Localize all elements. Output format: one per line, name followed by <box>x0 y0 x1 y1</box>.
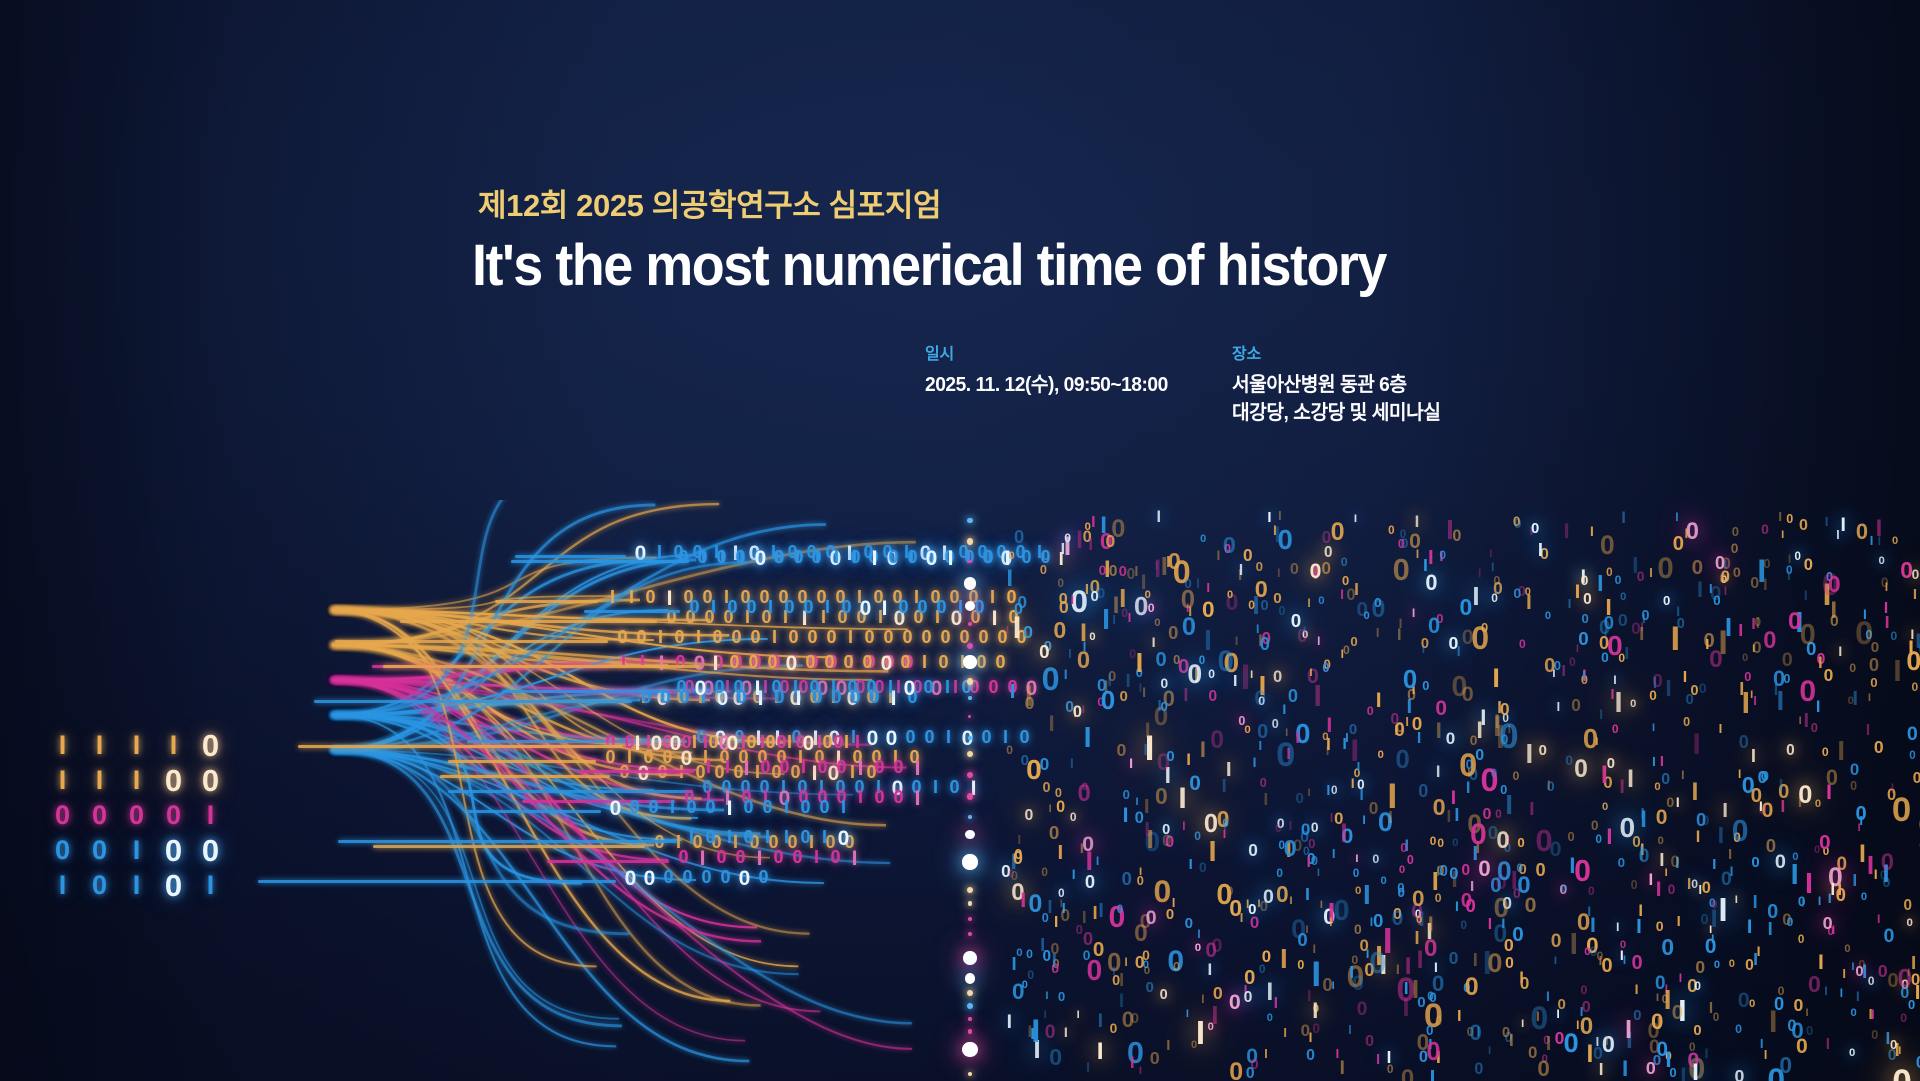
scatter-bit: I <box>1907 968 1910 979</box>
scatter-bit: 0 <box>1580 984 1587 996</box>
scatter-bit: I <box>1913 587 1917 602</box>
scatter-bit: 0 <box>1683 716 1690 729</box>
scatter-bit: 0 <box>1581 612 1588 625</box>
scatter-bit: I <box>1656 993 1659 1004</box>
scatter-bit: I <box>1866 723 1870 738</box>
scatter-bit: I <box>1472 585 1479 611</box>
scatter-bit: I <box>1488 917 1492 933</box>
scatter-bit: 0 <box>1799 677 1816 707</box>
scatter-bit: 0 <box>1040 756 1050 773</box>
scatter-bit: I <box>1312 1000 1318 1022</box>
scatter-bit: 0 <box>1619 814 1635 842</box>
scatter-bit: I <box>1635 982 1639 996</box>
source-bit: I <box>192 802 229 829</box>
scatter-bit: I <box>1128 612 1132 625</box>
scatter-bit: 0 <box>1400 529 1406 541</box>
scatter-bit: 0 <box>1185 916 1193 931</box>
scatter-bit: I <box>1267 511 1271 526</box>
scatter-bit: I <box>1697 579 1703 601</box>
scatter-bit: I <box>1088 536 1093 554</box>
scatter-bit: 0 <box>1025 695 1035 713</box>
scatter-bit: 0 <box>1607 757 1615 772</box>
scatter-bit: 0 <box>1110 1022 1118 1036</box>
scatter-bit: I <box>1675 511 1678 523</box>
scatter-bit: 0 <box>1916 1054 1920 1072</box>
scatter-bit: 0 <box>1353 869 1359 881</box>
info-where-label: 장소 <box>1232 340 1449 364</box>
scatter-bit: 0 <box>1551 932 1562 951</box>
scatter-bit: I <box>1915 983 1920 1003</box>
scatter-bit: 0 <box>1500 701 1510 718</box>
scatter-bit: I <box>1200 739 1206 761</box>
scatter-bit: I <box>1280 945 1288 973</box>
scatter-bit: I <box>1336 1048 1340 1061</box>
scatter-bit: 0 <box>1823 915 1833 933</box>
scatter-bit: 0 <box>1238 715 1245 728</box>
scatter-bit: I <box>1597 572 1603 595</box>
scatter-bit: I <box>1357 760 1361 773</box>
scatter-bit: 0 <box>1666 795 1674 809</box>
scatter-bit: 0 <box>1766 837 1776 855</box>
scatter-bit: 0 <box>1407 854 1414 866</box>
source-bit: 0 <box>118 802 155 829</box>
scatter-bit: 0 <box>1360 938 1369 955</box>
scatter-bit: 0 <box>1673 534 1684 554</box>
scatter-bit: 0 <box>1357 778 1365 791</box>
scatter-bit: 0 <box>1855 965 1863 980</box>
scatter-bit: 0 <box>1244 990 1253 1006</box>
scatter-bit: 0 <box>1600 532 1615 558</box>
scatter-bit: I <box>1253 756 1257 770</box>
scatter-bit: I <box>1660 755 1664 770</box>
scatter-bit: I <box>1778 510 1782 523</box>
scatter-bit: I <box>1620 949 1624 963</box>
scatter-bit: 0 <box>1670 854 1679 870</box>
scatter-bit: 0 <box>1612 723 1619 735</box>
scatter-bit: 0 <box>1630 699 1636 710</box>
scatter-bit: 0 <box>1295 791 1303 806</box>
scatter-bit: I <box>1045 991 1048 1002</box>
scatter-bit: I <box>1211 1002 1218 1028</box>
scatter-bit: I <box>1561 664 1565 680</box>
scatter-bit: 0 <box>1070 812 1077 824</box>
scatter-bit: 0 <box>1429 991 1437 1005</box>
scatter-bit: I <box>1341 649 1344 661</box>
scatter-bit: 0 <box>1093 940 1104 961</box>
scatter-bit: 0 <box>1460 596 1473 619</box>
scatter-bit: I <box>1605 596 1611 619</box>
scatter-bit: I <box>1233 674 1237 690</box>
info-when: 일시 2025. 11. 12(수), 09:50~18:00 <box>925 340 1178 399</box>
scatter-bit: 0 <box>1341 556 1348 568</box>
scatter-bit: 0 <box>1449 866 1458 883</box>
scatter-bit: I <box>1705 1047 1709 1061</box>
scatter-bit: 0 <box>1182 615 1196 640</box>
scatter-bit: 0 <box>1439 550 1446 562</box>
scatter-bit: I <box>1216 549 1220 563</box>
scatter-bit: I <box>1006 625 1009 636</box>
scatter-bit: 0 <box>1162 823 1170 838</box>
scatter-bit: 0 <box>1714 960 1720 971</box>
scatter-bit: I <box>1332 847 1336 860</box>
scatter-bit: I <box>1430 1068 1436 1081</box>
scatter-bit: I <box>1147 826 1154 852</box>
scatter-bit: I <box>1417 949 1424 974</box>
scatter-bit: I <box>1615 689 1623 718</box>
scatter-bit: I <box>1521 1019 1524 1030</box>
scatter-bit: I <box>1625 1018 1632 1044</box>
scatter-bit: I <box>1508 723 1511 735</box>
scatter-bit: 0 <box>1083 949 1091 963</box>
scatter-bit: 0 <box>1649 689 1657 703</box>
scatter-bit: 0 <box>1745 958 1754 974</box>
scatter-bit: 0 <box>1387 1064 1394 1076</box>
scatter-bit: 0 <box>1713 1013 1719 1025</box>
scatter-bit: I <box>1799 716 1802 727</box>
scatter-bit: I <box>1068 648 1072 661</box>
scatter-bit: 0 <box>1333 897 1349 926</box>
scatter-bit: 0 <box>1517 874 1530 898</box>
scatter-bit: I <box>1856 989 1860 1003</box>
scatter-bit: I <box>1093 904 1098 923</box>
scatter-bit: I <box>1136 649 1144 676</box>
scatter-bit: 0 <box>1229 897 1242 920</box>
scatter-bit: I <box>1057 843 1063 863</box>
scatter-bit: 0 <box>1187 661 1202 688</box>
scatter-bit: 0 <box>1372 853 1379 865</box>
source-bit: 0 <box>155 870 192 901</box>
scatter-bit: 0 <box>1257 723 1268 743</box>
scatter-bit: I <box>1466 780 1471 797</box>
scatter-bit: 0 <box>1430 836 1437 848</box>
scatter-bit: 0 <box>1561 884 1567 895</box>
scatter-bit: I <box>1774 682 1778 698</box>
scatter-bit: 0 <box>1787 917 1794 929</box>
scatter-bit: 0 <box>1155 785 1168 808</box>
scatter-bit: I <box>1805 1008 1808 1019</box>
scatter-bit: 0 <box>1452 838 1458 850</box>
scatter-bit: 0 <box>1909 751 1915 763</box>
scatter-bit: I <box>1303 626 1306 637</box>
scatter-bit: 0 <box>1796 1036 1808 1057</box>
scatter-bit: 0 <box>1263 888 1274 908</box>
scatter-bit: 0 <box>1517 836 1524 849</box>
scatter-bit: 0 <box>1135 954 1145 971</box>
scatter-bit: I <box>1728 848 1732 862</box>
scatter-bit: I <box>1665 677 1671 700</box>
scatter-bit: I <box>1696 829 1701 845</box>
scatter-bit: I <box>1289 819 1293 832</box>
scatter-bit: 0 <box>1465 975 1479 1000</box>
scatter-bit: I <box>1082 705 1085 716</box>
scatter-bit: 0 <box>1055 787 1062 800</box>
scatter-bit: 0 <box>1342 575 1349 588</box>
scatter-bit: I <box>1354 514 1357 525</box>
scatter-bit: I <box>1538 541 1543 559</box>
scatter-bit: 0 <box>1437 864 1445 878</box>
scatter-bit: I <box>1412 607 1415 619</box>
scatter-bit: I <box>1557 701 1560 713</box>
scatter-bit: 0 <box>1787 1018 1796 1034</box>
scatter-bit: I <box>1208 838 1216 867</box>
scatter-bit: I <box>1388 809 1393 826</box>
scatter-bit: 0 <box>1016 948 1022 959</box>
scatter-bit: 0 <box>1744 671 1751 684</box>
scatter-bit: 0 <box>1284 837 1297 860</box>
scatter-bit: I <box>1235 635 1238 647</box>
scatter-bit: 0 <box>1378 750 1384 761</box>
scatter-bit: I <box>1355 854 1358 865</box>
scatter-bit: 0 <box>1300 830 1309 846</box>
scatter-bit: I <box>1613 674 1616 686</box>
scatter-bit: 0 <box>1871 1029 1878 1042</box>
scatter-bit: I <box>1616 923 1619 935</box>
scatter-bit: 0 <box>1906 918 1912 929</box>
scatter-bit: 0 <box>1494 894 1509 921</box>
scatter-bit: 0 <box>1288 687 1298 705</box>
scatter-bit: 0 <box>1166 750 1174 765</box>
scatter-bit: I <box>1691 781 1698 806</box>
scatter-bit: 0 <box>1519 638 1526 650</box>
scatter-bit: I <box>1313 682 1321 712</box>
scatter-bit: 0 <box>1042 549 1050 564</box>
page-kicker: 제12회 2025 의공학연구소 심포지엄 <box>478 180 941 225</box>
scatter-bit: I <box>1467 767 1470 779</box>
scatter-bit: 0 <box>1462 684 1474 705</box>
info-where-value-1: 서울아산병원 동관 6층 <box>1232 371 1440 399</box>
scatter-bit: 0 <box>1433 796 1446 819</box>
scatter-bit: 0 <box>1117 904 1123 916</box>
scatter-bit: I <box>1569 855 1575 877</box>
scatter-bit: I <box>1556 1009 1559 1021</box>
scatter-bit: I <box>1266 981 1273 1006</box>
scatter-bit: 0 <box>1058 990 1065 1003</box>
scatter-bit: 0 <box>1210 729 1224 754</box>
scatter-bit: 0 <box>1312 1022 1320 1036</box>
scatter-bit: I <box>1738 769 1741 781</box>
scatter-bit: 0 <box>1256 560 1263 573</box>
source-binary-row: IIII0 <box>44 728 229 763</box>
scatter-bit: 0 <box>1879 556 1885 567</box>
scatter-bit: 0 <box>1421 637 1429 652</box>
scatter-bit: I <box>1816 699 1821 715</box>
scatter-bit: 0 <box>1531 522 1539 537</box>
scatter-bit: I <box>1049 804 1052 815</box>
scatter-bit: 0 <box>1536 861 1546 879</box>
scatter-bit: I <box>1072 868 1076 882</box>
scatter-bit: 0 <box>1721 870 1732 889</box>
scatter-bit: I <box>1791 861 1799 890</box>
source-bit: 0 <box>81 872 118 899</box>
scatter-bit: I <box>1838 645 1842 659</box>
scatter-bit: I <box>1340 588 1344 602</box>
scatter-bit: 0 <box>1121 607 1128 619</box>
scatter-bit: I <box>1135 797 1138 808</box>
scatter-bit: I <box>1751 747 1756 765</box>
scatter-bit: 0 <box>1513 515 1521 529</box>
scatter-bit: I <box>1665 868 1668 879</box>
scatter-bit: 0 <box>1027 969 1034 981</box>
scatter-bit: I <box>1096 855 1099 867</box>
scatter-bit: 0 <box>1399 888 1405 900</box>
source-bit: 0 <box>81 802 118 829</box>
scatter-bit: I <box>1596 1036 1600 1049</box>
scatter-bit: I <box>1156 509 1161 525</box>
scatter-bit: I <box>1870 534 1874 547</box>
scatter-bit: I <box>1309 668 1312 679</box>
scatter-bit: I <box>1054 915 1058 930</box>
scatter-bit: I <box>1052 952 1057 971</box>
scatter-bit: I <box>1519 970 1524 987</box>
scatter-bit: I <box>1493 712 1501 742</box>
scatter-bit: I <box>1289 896 1292 907</box>
scatter-bit: 0 <box>1512 770 1519 782</box>
scatter-bit: I <box>1080 621 1087 646</box>
scatter-bit: 0 <box>1073 704 1082 721</box>
scatter-bit: I <box>1836 528 1840 541</box>
scatter-bit: I <box>1206 581 1210 594</box>
scatter-bit: I <box>1447 808 1452 825</box>
scatter-bit: 0 <box>1758 769 1768 786</box>
scatter-bit: 0 <box>1111 517 1125 542</box>
scatter-bit: 0 <box>1168 624 1178 642</box>
scatter-bit: 0 <box>1322 662 1329 675</box>
scatter-bit: I <box>1750 690 1753 701</box>
scatter-bit: 0 <box>1017 594 1027 611</box>
scatter-bit: I <box>1278 510 1281 523</box>
scatter-bit: I <box>1196 1017 1205 1050</box>
scatter-bit: 0 <box>1119 565 1127 580</box>
scatter-bit: 0 <box>1255 578 1268 601</box>
scatter-bit: I <box>1376 691 1382 712</box>
scatter-bit: 0 <box>1583 592 1592 607</box>
scatter-bit: 0 <box>1721 569 1730 586</box>
scatter-bit: I <box>1144 797 1150 817</box>
scatter-bit: 0 <box>1602 802 1608 813</box>
scatter-bit: 0 <box>1401 1067 1414 1081</box>
scatter-bit: 0 <box>1154 618 1160 629</box>
scatter-bit: 0 <box>1227 590 1233 601</box>
scatter-bit: 0 <box>1874 739 1884 757</box>
scatter-bit: I <box>1884 601 1888 616</box>
scatter-bit: 0 <box>1900 1012 1907 1024</box>
scatter-bit: I <box>1665 1049 1671 1072</box>
scatter-bit: I <box>1769 1006 1778 1037</box>
scatter-bit: 0 <box>1631 953 1642 973</box>
scatter-bit: 0 <box>1767 902 1778 922</box>
scatter-bit: 0 <box>1732 525 1739 538</box>
scatter-bit: 0 <box>1800 621 1816 650</box>
scatter-bit: 0 <box>1310 561 1322 582</box>
scatter-bit: I <box>1830 881 1835 898</box>
scatter-bit: I <box>1837 737 1845 765</box>
scatter-bit: I <box>1476 719 1483 743</box>
scatter-bit: I <box>1885 581 1888 593</box>
info-where-value-2: 대강당, 소강당 및 세미나실 <box>1232 399 1440 427</box>
scatter-bit: I <box>1656 1015 1661 1033</box>
scatter-bit: 0 <box>1850 762 1859 779</box>
scatter-bit: 0 <box>1663 594 1670 607</box>
scatter-bit: 0 <box>1637 570 1645 584</box>
scatter-bit: 0 <box>1043 781 1051 795</box>
scatter-bit: I <box>1529 800 1534 819</box>
scatter-bit: I <box>1044 1010 1047 1021</box>
scatter-bit: I <box>1910 628 1914 641</box>
scatter-bit: 0 <box>1194 831 1201 843</box>
scatter-bit: 0 <box>1146 981 1154 996</box>
scatter-bit: I <box>1546 989 1550 1003</box>
scatter-binary-field: I0000I000I0I0I00000000I00I000II0I00I0II0… <box>0 500 1920 1081</box>
scatter-bit: I <box>1681 769 1684 781</box>
scatter-bit: 0 <box>1322 976 1332 995</box>
scatter-bit: I <box>1830 599 1837 623</box>
scatter-bit: 0 <box>1861 892 1867 903</box>
scatter-bit: 0 <box>1435 892 1442 904</box>
scatter-bit: I <box>1826 781 1832 803</box>
scatter-bit: I <box>1649 872 1654 889</box>
scatter-bit: 0 <box>1246 1066 1255 1081</box>
scatter-bit: 0 <box>1416 915 1422 926</box>
scatter-bit: I <box>1455 900 1459 914</box>
scatter-bit: 0 <box>1085 873 1095 891</box>
scatter-bit: I <box>1679 972 1682 984</box>
scatter-bit: 0 <box>1798 895 1806 909</box>
scatter-bit: 0 <box>1618 856 1625 869</box>
scatter-bit: 0 <box>1878 963 1888 981</box>
scatter-bit: 0 <box>1913 771 1920 786</box>
scatter-bit: I <box>1564 521 1570 542</box>
scatter-bit: I <box>1676 796 1680 810</box>
scatter-bit: 0 <box>1354 923 1362 937</box>
scatter-bit: 0 <box>1848 696 1854 707</box>
scatter-bit: I <box>1071 596 1074 608</box>
scatter-bit: 0 <box>1887 971 1898 991</box>
scatter-bit: I <box>1652 755 1656 768</box>
scatter-bit: 0 <box>1331 785 1338 797</box>
scatter-bit: 0 <box>1811 722 1818 735</box>
scatter-bit: 0 <box>1243 547 1253 564</box>
scatter-bit: 0 <box>1161 677 1169 691</box>
scatter-bit: I <box>1705 638 1709 653</box>
scatter-bit: 0 <box>1116 742 1126 760</box>
scatter-bit: I <box>1915 630 1920 652</box>
scatter-bit: 0 <box>1528 1045 1537 1062</box>
source-bit: 0 <box>155 802 192 829</box>
scatter-bit: I <box>1085 583 1089 598</box>
scatter-bit: 0 <box>1478 858 1490 880</box>
scatter-bit: 0 <box>1824 667 1834 684</box>
scatter-bit: I <box>1685 527 1689 540</box>
scatter-bit: I <box>1130 1055 1135 1072</box>
scatter-bit: 0 <box>1618 652 1625 664</box>
scatter-bit: 0 <box>1490 876 1502 897</box>
scatter-bit: 0 <box>1702 880 1711 896</box>
scatter-bit: I <box>1605 1036 1608 1048</box>
scatter-bit: 0 <box>1014 528 1024 546</box>
scatter-bit: 0 <box>1461 920 1467 932</box>
source-bit: I <box>118 872 155 899</box>
scatter-bit: 0 <box>1512 925 1524 946</box>
scatter-bit: I <box>1747 918 1752 938</box>
scatter-bit: I <box>1241 660 1251 695</box>
scatter-bit: 0 <box>1056 799 1065 815</box>
source-bit: I <box>118 767 155 794</box>
scatter-bit: 0 <box>1786 565 1793 577</box>
info-where: 장소 서울아산병원 동관 6층 대강당, 소강당 및 세미나실 <box>1232 340 1449 428</box>
scatter-bit: 0 <box>1646 1060 1656 1078</box>
scatter-bit: 0 <box>1400 842 1407 855</box>
scatter-bit: 0 <box>1516 863 1523 875</box>
